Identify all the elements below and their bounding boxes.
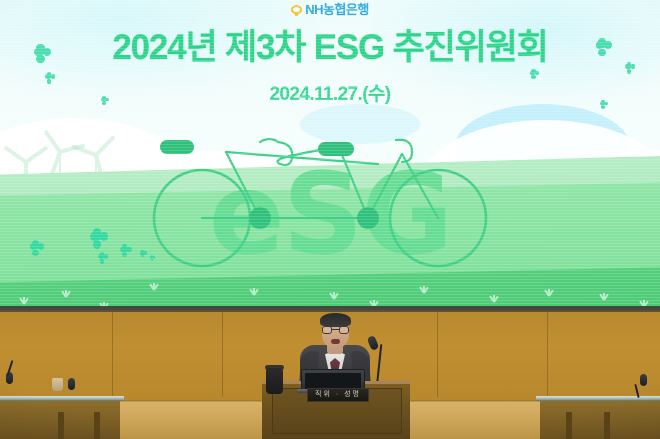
grass-tuft-icon [20, 297, 28, 304]
speaker-mouth [331, 339, 340, 344]
esg-bicycle-graphic: eSG [150, 128, 510, 273]
nh-bank-logo: NH농협은행 [0, 3, 660, 16]
tandem-bicycle-svg [150, 128, 510, 273]
podium-nameplate: 직위 · 성명 [307, 388, 369, 402]
nh-logo-mark-icon [291, 3, 302, 16]
microphone-head-icon [640, 374, 647, 386]
clover-icon [140, 250, 148, 258]
grass-tuft-icon [420, 286, 428, 293]
eyeglasses-icon [322, 326, 349, 334]
desk-right-leg [566, 412, 572, 439]
grass-tuft-icon [600, 293, 608, 300]
grass-tuft-icon [62, 290, 70, 297]
desk-right [540, 400, 660, 439]
wall-seam [222, 312, 223, 397]
microphone-head-icon [68, 378, 75, 390]
paper-cup [52, 378, 63, 391]
grass-tuft-icon [250, 288, 258, 295]
wall-seam [112, 312, 113, 397]
projection-screen: eSG [0, 0, 660, 310]
desk-right-top [536, 396, 660, 401]
grass-tuft-icon [545, 289, 553, 296]
nh-logo-text: NH농협은행 [305, 3, 369, 16]
slide-title: 2024년 제3차 ESG 추진위원회 [0, 28, 660, 68]
wall-top-shadow [0, 306, 660, 312]
clover-icon [120, 244, 134, 258]
desk-left-top [0, 396, 124, 401]
slide-date: 2024.11.27.(수) [0, 79, 660, 106]
tumbler [266, 368, 283, 394]
wall-seam [437, 312, 438, 397]
clover-icon [30, 240, 48, 258]
grass-tuft-icon [490, 295, 498, 302]
grass-tuft-icon [330, 292, 338, 299]
clover-icon [90, 228, 112, 250]
desk-left-leg [94, 412, 100, 439]
wall-seam [547, 312, 548, 397]
desk-right-leg [604, 412, 610, 439]
grass-tuft-icon [150, 283, 158, 290]
speaker-hair [320, 313, 351, 327]
desk-left-leg [58, 412, 64, 439]
clover-icon [98, 252, 111, 265]
screenshot-stage: eSG [0, 0, 660, 439]
clover-icon [150, 255, 156, 261]
